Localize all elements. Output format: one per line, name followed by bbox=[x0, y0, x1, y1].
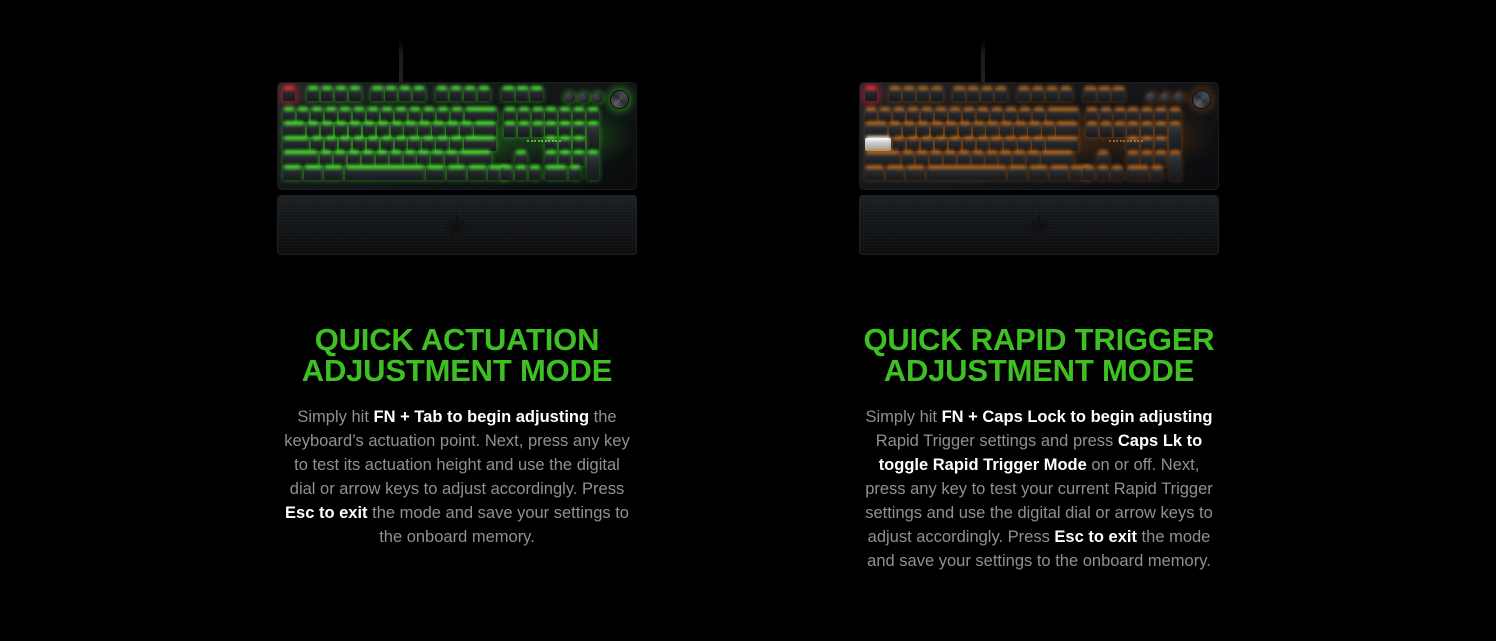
key-pause bbox=[1112, 88, 1124, 101]
keyboard-row-function bbox=[865, 88, 1125, 101]
keyboard-row-shift bbox=[865, 153, 1073, 166]
key-num-1 bbox=[1127, 153, 1139, 166]
key-f11 bbox=[1046, 88, 1058, 101]
key-f7 bbox=[399, 88, 411, 101]
key-r bbox=[349, 124, 361, 137]
key-z bbox=[320, 153, 332, 166]
key-end bbox=[1100, 124, 1112, 137]
key-f9 bbox=[436, 88, 448, 101]
key-left-ctrl bbox=[283, 167, 302, 180]
key-q bbox=[307, 124, 319, 137]
key-slash bbox=[1027, 153, 1039, 166]
key-arrow-right bbox=[529, 167, 541, 180]
key-bracket-left bbox=[446, 124, 458, 137]
keyboard-numpad-row4 bbox=[1127, 153, 1181, 166]
key-left-alt bbox=[906, 167, 925, 180]
key-num-enter bbox=[587, 153, 599, 181]
key-right-shift bbox=[459, 153, 491, 166]
key-f12 bbox=[1060, 88, 1072, 101]
keyboard-row-shift bbox=[283, 153, 491, 166]
key-f5 bbox=[953, 88, 965, 101]
key-num-0 bbox=[545, 167, 567, 180]
digital-dial bbox=[610, 90, 629, 109]
key-e bbox=[335, 124, 347, 137]
key-esc bbox=[865, 88, 877, 101]
keyboard-row-qwerty bbox=[283, 124, 544, 137]
digital-dial bbox=[1192, 90, 1211, 109]
key-y bbox=[377, 124, 389, 137]
key-comma bbox=[999, 153, 1011, 166]
key-fn bbox=[1029, 167, 1048, 180]
key-arrow-left bbox=[501, 167, 513, 180]
key-esc bbox=[283, 88, 295, 101]
key-p bbox=[432, 124, 444, 137]
feature-description-quick-rapid-trigger: Simply hit FN + Caps Lock to begin adjus… bbox=[864, 405, 1214, 573]
key-r bbox=[931, 124, 943, 137]
key-q bbox=[889, 124, 901, 137]
key-num-3 bbox=[1155, 153, 1167, 166]
key-arrow-down bbox=[515, 167, 527, 180]
key-num-8 bbox=[1141, 124, 1153, 137]
media-button-play-icon bbox=[578, 92, 589, 103]
key-arrow-up bbox=[1097, 153, 1109, 166]
key-u bbox=[973, 124, 985, 137]
keyboard-cable bbox=[981, 40, 985, 84]
key-f10 bbox=[1032, 88, 1044, 101]
feature-title-quick-rapid-trigger: QUICK RAPID TRIGGER ADJUSTMENT MODE bbox=[864, 324, 1215, 386]
product-image-keyboard-orange bbox=[859, 40, 1219, 262]
keyboard-arrow-cluster bbox=[1083, 167, 1123, 180]
key-t bbox=[363, 124, 375, 137]
key-num-9 bbox=[1155, 124, 1167, 137]
key-num-0 bbox=[1127, 167, 1149, 180]
keyboard-cable bbox=[399, 40, 403, 84]
key-scroll-lock bbox=[1098, 88, 1110, 101]
key-bracket-left bbox=[1028, 124, 1040, 137]
key-f4 bbox=[931, 88, 943, 101]
key-num-2 bbox=[1141, 153, 1153, 166]
key-num-plus bbox=[587, 124, 599, 152]
keyboard-row-bottom bbox=[283, 167, 507, 180]
page-root: QUICK ACTUATION ADJUSTMENT MODE Simply h… bbox=[0, 0, 1496, 641]
key-b bbox=[376, 153, 388, 166]
key-f12 bbox=[478, 88, 490, 101]
key-n bbox=[972, 153, 984, 166]
key-arrow-left bbox=[1083, 167, 1095, 180]
key-f8 bbox=[995, 88, 1007, 101]
feature-title-quick-actuation: QUICK ACTUATION ADJUSTMENT MODE bbox=[302, 324, 612, 386]
key-num-period bbox=[569, 167, 581, 180]
key-num-enter bbox=[1169, 153, 1181, 181]
key-num-2 bbox=[559, 153, 571, 166]
key-n bbox=[390, 153, 402, 166]
keyboard-body bbox=[277, 82, 637, 190]
keyboard-indicator-strip bbox=[527, 138, 569, 144]
key-f7 bbox=[981, 88, 993, 101]
keyboard-row-qwerty bbox=[865, 124, 1126, 137]
key-left-shift bbox=[283, 153, 318, 166]
key-m bbox=[986, 153, 998, 166]
key-f8 bbox=[413, 88, 425, 101]
key-num-8 bbox=[559, 124, 571, 137]
media-button-previous-icon bbox=[564, 92, 575, 103]
key-f3 bbox=[335, 88, 347, 101]
keyboard-row-bottom bbox=[865, 167, 1089, 180]
key-space bbox=[345, 167, 425, 180]
key-f10 bbox=[450, 88, 462, 101]
keyboard-arrow-up bbox=[1097, 153, 1109, 166]
key-left-win bbox=[304, 167, 323, 180]
keyboard-arrow-up bbox=[515, 153, 527, 166]
feature-column-quick-actuation: QUICK ACTUATION ADJUSTMENT MODE Simply h… bbox=[277, 40, 637, 573]
key-f6 bbox=[385, 88, 397, 101]
feature-columns: QUICK ACTUATION ADJUSTMENT MODE Simply h… bbox=[0, 0, 1496, 573]
key-f2 bbox=[903, 88, 915, 101]
key-print-screen bbox=[1084, 88, 1096, 101]
key-p bbox=[1014, 124, 1026, 137]
key-t bbox=[945, 124, 957, 137]
key-o bbox=[418, 124, 430, 137]
key-menu bbox=[1050, 167, 1069, 180]
key-num-period bbox=[1151, 167, 1163, 180]
key-end bbox=[518, 124, 530, 137]
key-num-3 bbox=[573, 153, 585, 166]
razer-logo-icon bbox=[440, 210, 474, 240]
key-i bbox=[986, 124, 998, 137]
key-f1 bbox=[889, 88, 901, 101]
key-o bbox=[1000, 124, 1012, 137]
keyboard-numpad-row2 bbox=[545, 124, 599, 137]
key-bracket-right bbox=[1042, 124, 1054, 137]
key-v bbox=[944, 153, 956, 166]
key-num-9 bbox=[573, 124, 585, 137]
wrist-rest bbox=[859, 195, 1219, 255]
key-x bbox=[334, 153, 346, 166]
key-x bbox=[916, 153, 928, 166]
key-period bbox=[1013, 153, 1025, 166]
key-right-alt bbox=[1008, 167, 1027, 180]
key-f6 bbox=[967, 88, 979, 101]
key-left-alt bbox=[324, 167, 343, 180]
key-pause bbox=[530, 88, 542, 101]
keyboard-indicator-strip bbox=[1109, 138, 1151, 144]
keyboard-numpad-row5 bbox=[1127, 167, 1163, 180]
key-bracket-right bbox=[460, 124, 472, 137]
key-scroll-lock bbox=[516, 88, 528, 101]
key-num-plus bbox=[1169, 124, 1181, 152]
key-f5 bbox=[371, 88, 383, 101]
key-menu bbox=[468, 167, 487, 180]
key-left-win bbox=[886, 167, 905, 180]
key-right-alt bbox=[426, 167, 445, 180]
key-delete bbox=[504, 124, 516, 137]
key-y bbox=[959, 124, 971, 137]
key-v bbox=[362, 153, 374, 166]
key-print-screen bbox=[502, 88, 514, 101]
key-z bbox=[902, 153, 914, 166]
media-button-play-icon bbox=[1160, 92, 1171, 103]
key-f2 bbox=[321, 88, 333, 101]
key-period bbox=[431, 153, 443, 166]
key-f4 bbox=[349, 88, 361, 101]
key-b bbox=[958, 153, 970, 166]
key-u bbox=[391, 124, 403, 137]
key-page-down bbox=[1114, 124, 1126, 137]
key-page-down bbox=[532, 124, 544, 137]
key-i bbox=[404, 124, 416, 137]
key-right-shift bbox=[1041, 153, 1073, 166]
keyboard-numpad-row4 bbox=[545, 153, 599, 166]
key-c bbox=[348, 153, 360, 166]
feature-description-quick-actuation: Simply hit FN + Tab to begin adjusting t… bbox=[282, 405, 632, 549]
key-arrow-right bbox=[1111, 167, 1123, 180]
media-button-previous-icon bbox=[1146, 92, 1157, 103]
key-num-1 bbox=[545, 153, 557, 166]
keyboard-keydeck bbox=[283, 88, 633, 186]
keyboard-row-function bbox=[283, 88, 543, 101]
key-left-ctrl bbox=[865, 167, 884, 180]
key-fn bbox=[447, 167, 466, 180]
key-c bbox=[930, 153, 942, 166]
media-button-next-icon bbox=[1174, 92, 1185, 103]
key-num-7 bbox=[1127, 124, 1139, 137]
product-image-keyboard-green bbox=[277, 40, 637, 262]
key-left-shift bbox=[865, 153, 900, 166]
key-tab bbox=[283, 124, 305, 137]
feature-column-quick-rapid-trigger: QUICK RAPID TRIGGER ADJUSTMENT MODE Simp… bbox=[859, 40, 1219, 573]
key-e bbox=[917, 124, 929, 137]
key-num-7 bbox=[545, 124, 557, 137]
media-button-next-icon bbox=[592, 92, 603, 103]
key-backslash bbox=[1056, 124, 1078, 137]
key-f1 bbox=[307, 88, 319, 101]
key-w bbox=[903, 124, 915, 137]
key-slash bbox=[445, 153, 457, 166]
key-m bbox=[404, 153, 416, 166]
key-comma bbox=[417, 153, 429, 166]
keyboard-numpad-row2 bbox=[1127, 124, 1181, 137]
key-f3 bbox=[917, 88, 929, 101]
key-w bbox=[321, 124, 333, 137]
key-delete bbox=[1086, 124, 1098, 137]
key-f9 bbox=[1018, 88, 1030, 101]
key-space bbox=[927, 167, 1007, 180]
razer-logo-icon bbox=[1022, 210, 1056, 240]
keyboard-numpad-row5 bbox=[545, 167, 581, 180]
keyboard-arrow-cluster bbox=[501, 167, 541, 180]
wrist-rest bbox=[277, 195, 637, 255]
key-tab bbox=[865, 124, 887, 137]
key-backslash bbox=[474, 124, 496, 137]
key-f11 bbox=[464, 88, 476, 101]
keyboard-keydeck bbox=[865, 88, 1215, 186]
keyboard-body bbox=[859, 82, 1219, 190]
key-arrow-down bbox=[1097, 167, 1109, 180]
key-arrow-up bbox=[515, 153, 527, 166]
